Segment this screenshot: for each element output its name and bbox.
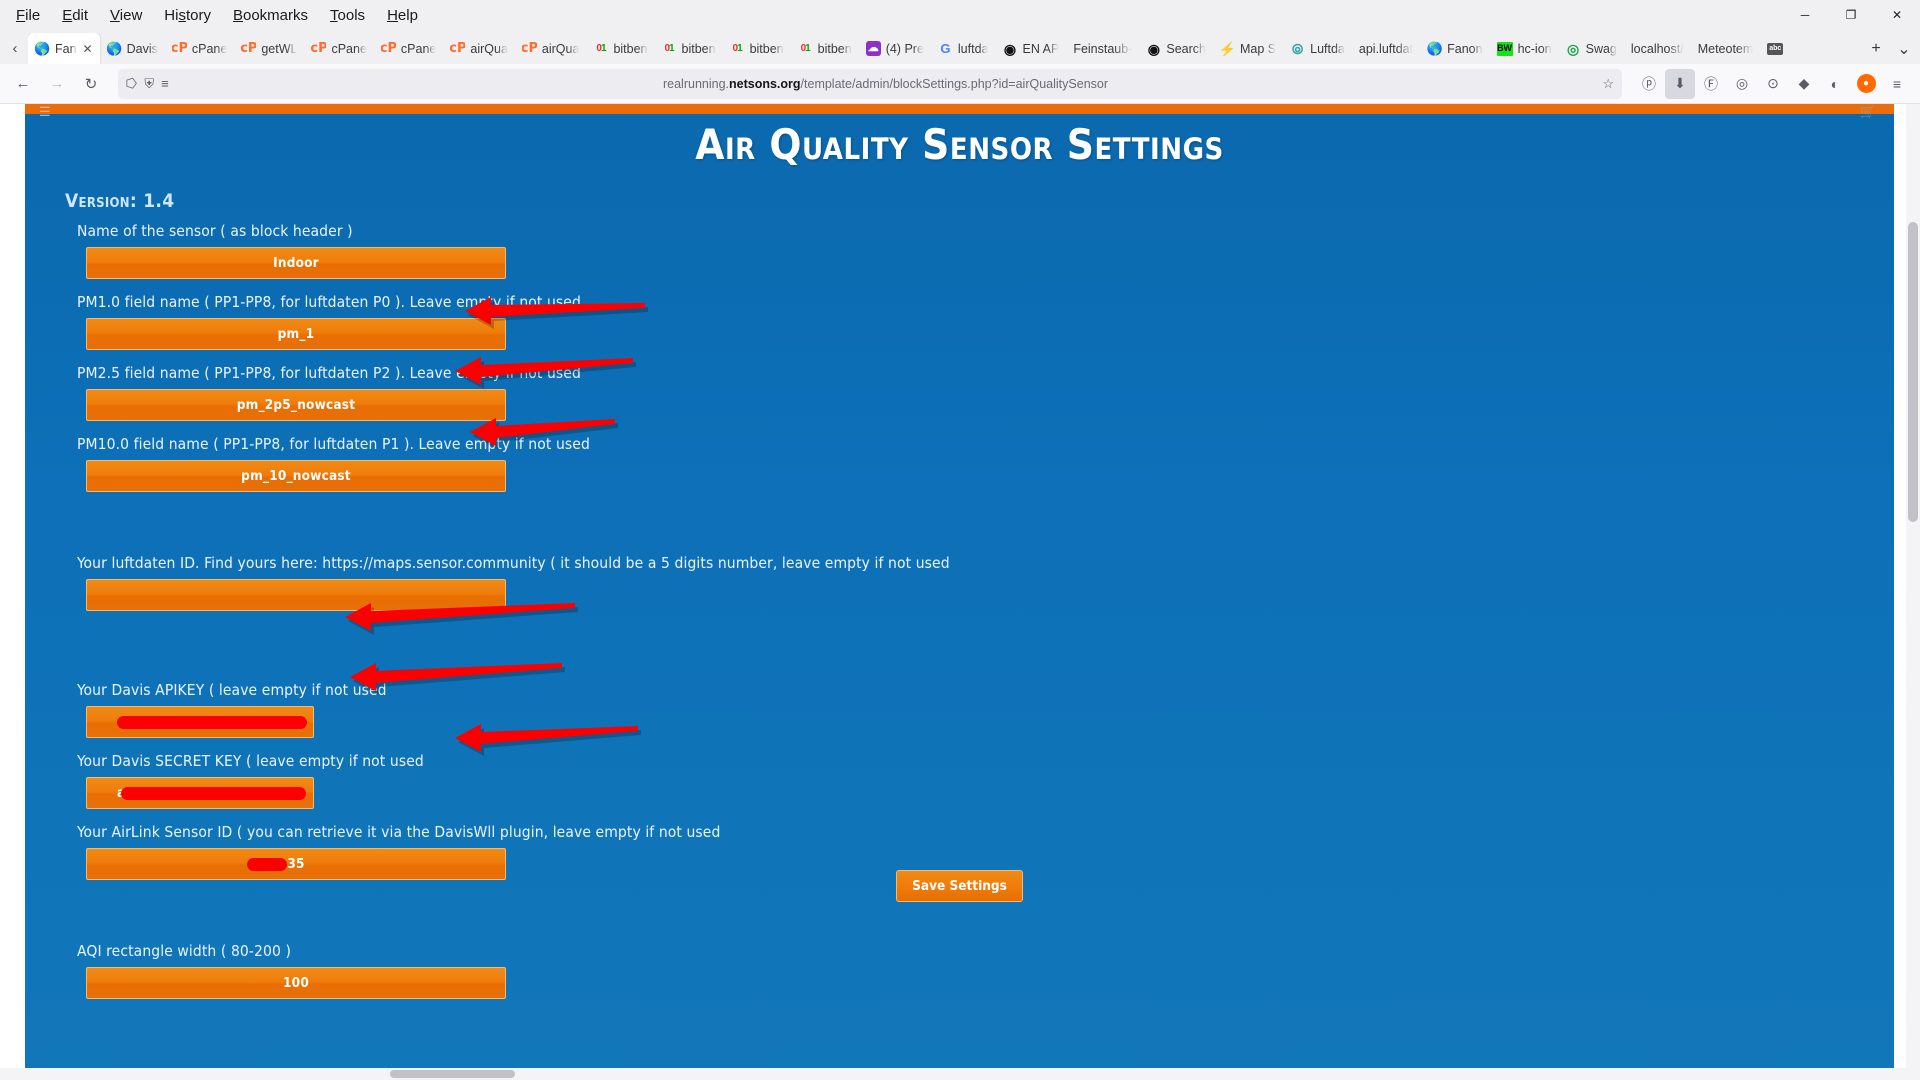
facebook-container-icon[interactable]: Ⓕ [1696,69,1726,99]
avatar: ● [1857,74,1876,93]
browser-tab[interactable]: 01bitben [791,33,859,64]
field-block-pm25-field-name: PM2.5 field name ( PP1-PP8, for luftdate… [65,364,1365,421]
browser-tab[interactable]: ☁(4) Pre [859,33,931,64]
tab-label: getWL [261,42,297,56]
luftdaten-icon: ⦾ [1290,41,1305,56]
account-avatar[interactable]: ● [1851,69,1881,99]
maximize-button[interactable]: ❐ [1828,0,1874,30]
window-controls: ─ ❐ ✕ [1782,0,1920,30]
input-value-aqi-rectangle-width: 100 [283,975,309,991]
page-header-partial-cart-icon: 🛒 [1860,104,1876,120]
browser-tab[interactable]: ⦾Luftda [1283,33,1352,64]
app-menu-icon[interactable]: ≡ [1882,69,1912,99]
tab-label: cPane [401,42,436,56]
tab-label: Davis [127,42,158,56]
shield-icon[interactable]: ⭔ [126,77,137,90]
vertical-scrollbar[interactable] [1906,104,1920,1080]
input-value-davis-apikey: mz [117,714,137,730]
globe-icon: 🌎 [35,41,50,56]
navigation-toolbar: ← → ↻ ⭔ ⛨ ≡ realrunning.netsons.org/temp… [0,64,1920,104]
extension-shield-icon[interactable]: ◆ [1789,69,1819,99]
github-icon: ◉ [1146,41,1161,56]
label-airlink-sensor-id: Your AirLink Sensor ID ( you can retriev… [77,823,1365,841]
menu-bookmarks[interactable]: Bookmarks [223,4,318,27]
browser-tab[interactable]: 🌎Fanon [1420,33,1489,64]
download-icon[interactable]: ⬇ [1665,69,1695,99]
menu-bar: File Edit View History Bookmarks Tools H… [0,0,1920,30]
field-block-sensor-name: Name of the sensor ( as block header )In… [65,222,1365,279]
browser-tab[interactable]: 01bitben [586,33,654,64]
label-pm1-field-name: PM1.0 field name ( PP1-PP8, for luftdate… [77,293,1365,311]
input-sensor-name[interactable]: Indoor [86,247,506,279]
swagger-icon: ◎ [1566,41,1581,56]
bitbucket-icon: 01 [593,41,608,56]
tab-label: Fan [55,42,77,56]
minimize-button[interactable]: ─ [1782,0,1828,30]
extension-blue-icon[interactable]: ◎ [1727,69,1757,99]
menu-tools[interactable]: Tools [320,4,375,27]
tab-label: cPane [331,42,366,56]
tab-label: bitben [750,42,784,56]
back-button[interactable]: ← [8,69,38,99]
site-permissions-icon[interactable]: ≡ [161,77,169,90]
close-tab-icon[interactable]: ✕ [83,42,93,56]
browser-tab[interactable]: ◎Swag [1559,33,1624,64]
tab-strip: ‹ 🌎Fan✕🌎DaviscPcPanecPgetWLcPcPanecPcPan… [0,30,1920,64]
save-settings-row: Save Settings [25,870,1894,902]
forward-button[interactable]: → [42,69,72,99]
browser-window: File Edit View History Bookmarks Tools H… [0,0,1920,1080]
redaction-overlay [117,716,307,729]
label-davis-secret-key: Your Davis SECRET KEY ( leave empty if n… [77,752,1365,770]
tab-label: Fanon [1447,42,1482,56]
url-domain: netsons.org [729,77,801,91]
page-left-margin [0,104,25,1080]
browser-tab[interactable]: api.luftdat [1352,33,1420,64]
browser-tab[interactable]: ◉Search [1139,33,1213,64]
tab-label: Meteotem [1698,42,1754,56]
url-prefix: realrunning. [663,77,729,91]
url-path: /template/admin/blockSettings.php?id=air… [801,77,1108,91]
menu-file[interactable]: File [6,4,50,27]
browser-tab[interactable]: 🌎Davis [100,33,165,64]
cpanel-icon: cP [241,41,256,56]
globe-icon: 🌎 [1427,41,1442,56]
browser-tab[interactable]: 🌎Fan✕ [28,33,100,64]
browser-tab[interactable]: ◉EN AP [995,33,1066,64]
input-value-davis-secret-key: aht [117,785,140,801]
browser-tab[interactable]: cPcPane [165,33,234,64]
horizontal-scrollbar-thumb[interactable] [390,1070,515,1078]
vertical-scrollbar-thumb[interactable] [1908,222,1918,522]
menu-edit[interactable]: Edit [52,4,98,27]
page-title: Air Quality Sensor Settings [25,120,1894,169]
bitbucket-icon: 01 [662,41,677,56]
pocket-icon[interactable]: ⓟ [1634,69,1664,99]
label-aqi-rectangle-width: AQI rectangle width ( 80-200 ) [77,942,1365,960]
input-luftdaten-id[interactable] [86,579,506,611]
new-tab-button[interactable]: + [1862,33,1890,64]
cpanel-icon: cP [172,41,187,56]
field-block-aqi-rectangle-width: AQI rectangle width ( 80-200 )100 [65,942,1365,999]
bw-icon: BW [1497,42,1513,56]
input-value-pm1-field-name: pm_1 [278,326,315,342]
close-window-button[interactable]: ✕ [1874,0,1920,30]
tab-label: bitben [613,42,647,56]
horizontal-scrollbar[interactable] [0,1068,1920,1080]
cpanel-icon: cP [522,41,537,56]
field-block-davis-secret-key: Your Davis SECRET KEY ( leave empty if n… [65,752,1365,809]
save-settings-button[interactable]: Save Settings [896,870,1023,902]
tab-label: cPane [192,42,227,56]
bolt-icon: ⚡ [1220,41,1235,56]
tab-label: Search [1166,42,1206,56]
tab-label: luftda [958,42,989,56]
version-label: Version: 1.4 [65,190,174,212]
field-block-pm10-field-name: PM10.0 field name ( PP1-PP8, for luftdat… [65,435,1365,492]
browser-tab[interactable]: 01bitben [655,33,723,64]
input-aqi-rectangle-width[interactable]: 100 [86,967,506,999]
browser-tab[interactable]: Gluftda [931,33,996,64]
label-luftdaten-id: Your luftdaten ID. Find yours here: http… [77,554,1365,572]
bookmark-star-icon[interactable]: ☆ [1602,77,1614,90]
input-pm10-field-name[interactable]: pm_10_nowcast [86,460,506,492]
meteo-icon: abc [1767,43,1783,55]
bitbucket-icon: 01 [730,41,745,56]
input-davis-secret-key[interactable]: aht [86,777,314,809]
browser-tab[interactable]: cPcPane [304,33,373,64]
tab-label: Feinstaub- [1073,42,1132,56]
page-header-partial-icon: ☰ [39,104,51,120]
browser-tab[interactable]: cPairQua [515,33,587,64]
browser-tab[interactable]: cPcPane [374,33,443,64]
google-icon: G [938,41,953,56]
tab-label: bitben [818,42,852,56]
browser-tab[interactable]: ⚡Map S [1213,33,1283,64]
input-pm25-field-name[interactable]: pm_2p5_nowcast [86,389,506,421]
extension-target-icon[interactable]: ⊙ [1758,69,1788,99]
cpanel-icon: cP [381,41,396,56]
tab-label: (4) Pre [886,42,924,56]
redaction-overlay [121,787,306,800]
browser-tab[interactable]: BWhc-ion [1490,33,1559,64]
label-pm25-field-name: PM2.5 field name ( PP1-PP8, for luftdate… [77,364,1365,382]
menu-view[interactable]: View [100,4,152,27]
list-all-tabs-icon[interactable]: ⌄ [1890,33,1918,64]
tab-label: api.luftdat [1359,42,1413,56]
menu-history[interactable]: History [154,4,221,27]
reload-button[interactable]: ↻ [76,69,106,99]
browser-tab[interactable]: Feinstaub- [1066,33,1139,64]
tab-label: localhost/ [1631,42,1684,56]
field-block-luftdaten-id: Your luftdaten ID. Find yours here: http… [65,554,1365,611]
browser-tab[interactable]: cPgetWL [234,33,304,64]
browser-tab[interactable]: localhost/ [1624,33,1691,64]
browser-tab[interactable]: cPairQua [443,33,515,64]
tab-label: bitben [682,42,716,56]
field-block-davis-apikey: Your Davis APIKEY ( leave empty if not u… [65,681,1365,738]
input-value-pm25-field-name: pm_2p5_nowcast [237,397,356,413]
scroll-tabs-left-icon[interactable]: ‹ [2,32,28,64]
extension-privacy-icon[interactable]: ◐ [1820,69,1850,99]
bitbucket-icon: 01 [798,41,813,56]
url-text[interactable]: realrunning.netsons.org/template/admin/b… [176,77,1596,91]
tab-label: Luftda [1310,42,1345,56]
cpanel-icon: cP [450,41,465,56]
tab-label: hc-ion [1518,42,1552,56]
label-sensor-name: Name of the sensor ( as block header ) [77,222,1365,240]
cloud-icon: ☁ [866,41,881,56]
menu-help[interactable]: Help [377,4,428,27]
browser-tab[interactable]: Meteotem [1691,33,1761,64]
browser-tab[interactable]: abc [1760,33,1795,64]
input-pm1-field-name[interactable]: pm_1 [86,318,506,350]
page-top-orange-strip [25,104,1894,114]
toolbar-icons: ⓟ⬇Ⓕ◎⊙◆◐●≡ [1634,69,1912,99]
tab-label: airQua [542,42,580,56]
input-value-pm10-field-name: pm_10_nowcast [241,468,351,484]
cpanel-icon: cP [311,41,326,56]
tracker-protection-icon[interactable]: ⛨ [144,77,154,90]
label-pm10-field-name: PM10.0 field name ( PP1-PP8, for luftdat… [77,435,1365,453]
tab-label: Map S [1240,42,1276,56]
input-value-sensor-name: Indoor [273,255,319,271]
globe-icon: 🌎 [107,41,122,56]
github-icon: ◉ [1002,41,1017,56]
tab-label: EN AP [1022,42,1059,56]
page-viewport: ☰ 🛒 Air Quality Sensor Settings Version:… [0,104,1920,1080]
tab-label: airQua [470,42,508,56]
field-block-pm1-field-name: PM1.0 field name ( PP1-PP8, for luftdate… [65,293,1365,350]
settings-page: ☰ 🛒 Air Quality Sensor Settings Version:… [25,104,1894,1080]
browser-tab[interactable]: 01bitben [723,33,791,64]
label-davis-apikey: Your Davis APIKEY ( leave empty if not u… [77,681,1365,699]
tab-label: Swag [1586,42,1617,56]
url-bar[interactable]: ⭔ ⛨ ≡ realrunning.netsons.org/template/a… [118,69,1622,99]
input-davis-apikey[interactable]: mz [86,706,314,738]
